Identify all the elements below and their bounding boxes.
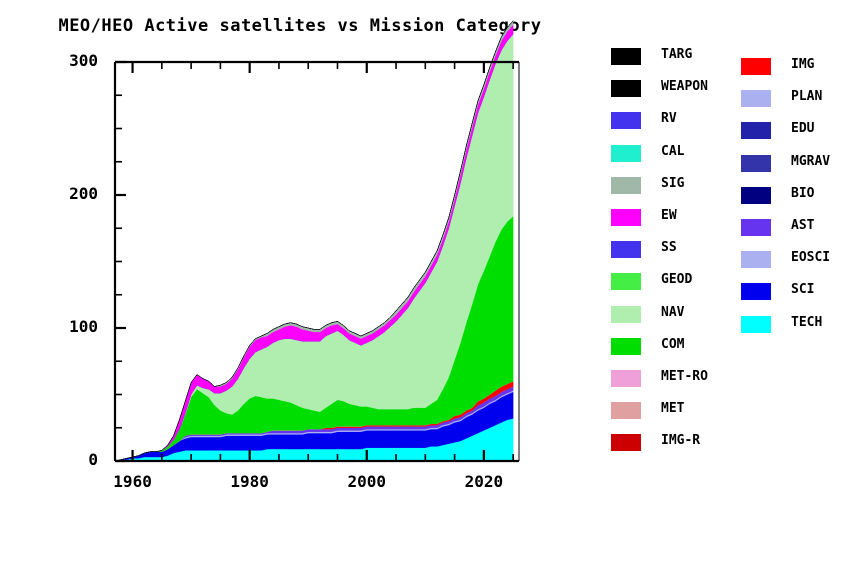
legend-swatch-icon <box>611 402 641 419</box>
legend-label: WEAPON <box>661 79 708 94</box>
legend-label: COM <box>661 337 684 352</box>
legend-swatch-icon <box>611 370 641 387</box>
y-tick-label: 0 <box>38 450 98 469</box>
legend-label: BIO <box>791 186 814 201</box>
legend-swatch-icon <box>611 338 641 355</box>
legend-label: RV <box>661 111 677 126</box>
legend-label: MET-RO <box>661 369 708 384</box>
legend-swatch-icon <box>741 219 771 236</box>
legend-swatch-icon <box>611 80 641 97</box>
legend-label: EW <box>661 208 677 223</box>
legend-swatch-icon <box>741 251 771 268</box>
legend-swatch-icon <box>741 122 771 139</box>
x-tick-label: 1960 <box>93 472 173 491</box>
legend-swatch-icon <box>741 316 771 333</box>
legend-label: TARG <box>661 47 692 62</box>
x-tick-label: 2000 <box>327 472 407 491</box>
legend-label: EOSCI <box>791 250 830 265</box>
legend-label: SCI <box>791 282 814 297</box>
legend-label: IMG <box>791 57 814 72</box>
legend-swatch-icon <box>611 112 641 129</box>
legend-label: EDU <box>791 121 814 136</box>
y-tick-label: 300 <box>38 51 98 70</box>
legend-label: MET <box>661 401 684 416</box>
legend-swatch-icon <box>611 145 641 162</box>
legend-swatch-icon <box>611 209 641 226</box>
legend-swatch-icon <box>611 48 641 65</box>
legend-label: MGRAV <box>791 154 830 169</box>
legend-swatch-icon <box>741 283 771 300</box>
x-tick-label: 2020 <box>444 472 524 491</box>
legend-label: NAV <box>661 305 684 320</box>
legend-swatch-icon <box>741 90 771 107</box>
y-tick-label: 100 <box>38 317 98 336</box>
chart-canvas: MEO/HEO Active satellites vs Mission Cat… <box>0 0 857 576</box>
legend-label: GEOD <box>661 272 692 287</box>
legend-swatch-icon <box>611 177 641 194</box>
legend-swatch-icon <box>611 241 641 258</box>
legend-label: SS <box>661 240 677 255</box>
legend-label: IMG-R <box>661 433 700 448</box>
legend-label: PLAN <box>791 89 822 104</box>
legend-swatch-icon <box>611 273 641 290</box>
legend-label: SIG <box>661 176 684 191</box>
legend-swatch-icon <box>611 434 641 451</box>
legend-swatch-icon <box>741 187 771 204</box>
legend-swatch-icon <box>741 58 771 75</box>
legend-label: AST <box>791 218 814 233</box>
y-tick-label: 200 <box>38 184 98 203</box>
legend-label: CAL <box>661 144 684 159</box>
legend-label: TECH <box>791 315 822 330</box>
x-tick-label: 1980 <box>210 472 290 491</box>
legend-swatch-icon <box>741 155 771 172</box>
legend-swatch-icon <box>611 306 641 323</box>
